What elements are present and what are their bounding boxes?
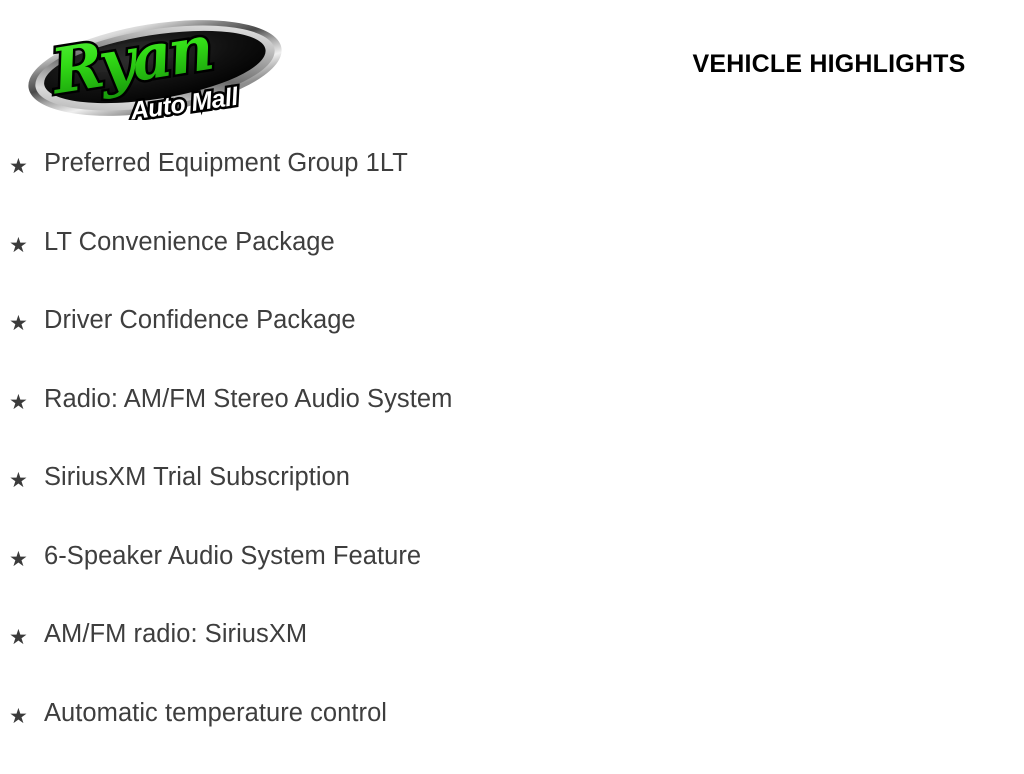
star-icon: ★ (9, 153, 31, 181)
list-item-label: LT Convenience Package (44, 225, 1024, 259)
list-item: ★ Preferred Equipment Group 1LT (0, 146, 1024, 225)
star-icon: ★ (9, 703, 31, 731)
star-icon: ★ (9, 546, 31, 574)
list-item: ★ 6-Speaker Audio System Feature (0, 539, 1024, 618)
list-item-label: Preferred Equipment Group 1LT (44, 146, 1024, 180)
list-item-label: Radio: AM/FM Stereo Audio System (44, 382, 1024, 416)
page-header: Ryan Auto Mall VEHICLE HIGHLIGHTS (0, 0, 1024, 132)
list-item: ★ Radio: AM/FM Stereo Audio System (0, 382, 1024, 461)
vehicle-highlights-list: ★ Preferred Equipment Group 1LT ★ LT Con… (0, 146, 1024, 774)
star-icon: ★ (9, 624, 31, 652)
list-item: ★ LT Convenience Package (0, 225, 1024, 304)
page-title: VEHICLE HIGHLIGHTS (664, 50, 994, 79)
list-item-label: Automatic temperature control (44, 696, 1024, 730)
star-icon: ★ (9, 310, 31, 338)
ryan-auto-mall-logo: Ryan Auto Mall (22, 8, 288, 120)
list-item-label: SiriusXM Trial Subscription (44, 460, 1024, 494)
list-item: ★ SiriusXM Trial Subscription (0, 460, 1024, 539)
list-item: ★ Driver Confidence Package (0, 303, 1024, 382)
star-icon: ★ (9, 467, 31, 495)
star-icon: ★ (9, 389, 31, 417)
list-item-label: Driver Confidence Package (44, 303, 1024, 337)
list-item-label: 6-Speaker Audio System Feature (44, 539, 1024, 573)
list-item: ★ AM/FM radio: SiriusXM (0, 617, 1024, 696)
list-item: ★ Automatic temperature control (0, 696, 1024, 774)
list-item-label: AM/FM radio: SiriusXM (44, 617, 1024, 651)
star-icon: ★ (9, 232, 31, 260)
